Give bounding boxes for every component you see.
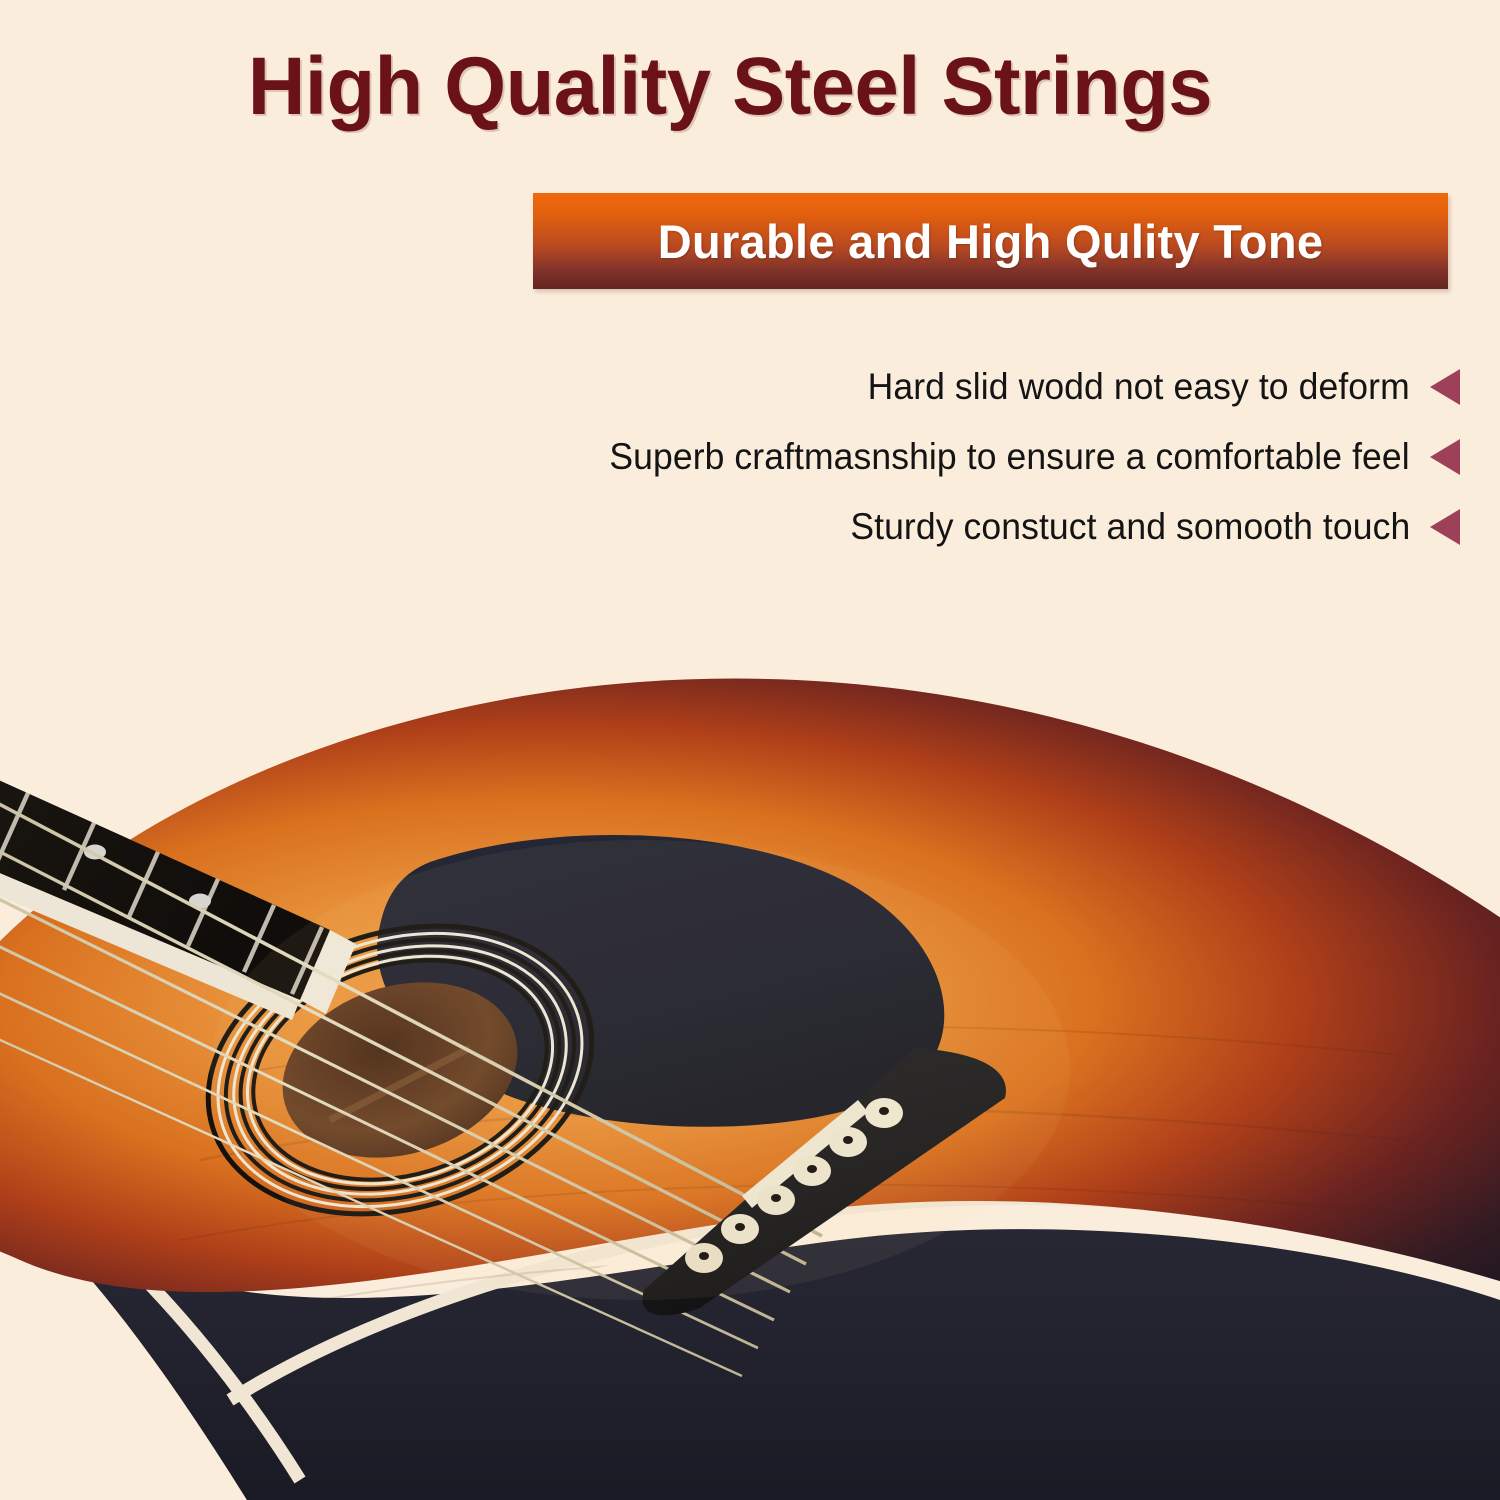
product-feature-image: High Quality Steel Strings Durable and H… [0, 0, 1500, 1500]
feature-list: Hard slid wodd not easy to deform Superb… [300, 352, 1460, 562]
list-item: Superb craftmasnship to ensure a comfort… [300, 422, 1460, 492]
feature-text: Superb craftmasnship to ensure a comfort… [610, 436, 1410, 478]
soundboard-highlight [210, 840, 1070, 1300]
product-photo-acoustic-guitar [0, 600, 1500, 1500]
list-item: Sturdy constuct and somooth touch [300, 492, 1460, 562]
left-triangle-icon [1430, 439, 1460, 475]
subtitle-banner-label: Durable and High Qulity Tone [658, 214, 1324, 269]
guitar-illustration [0, 600, 1500, 1500]
feature-text: Hard slid wodd not easy to deform [868, 366, 1410, 408]
left-triangle-icon [1430, 369, 1460, 405]
left-triangle-icon [1430, 509, 1460, 545]
feature-text: Sturdy constuct and somooth touch [850, 506, 1410, 548]
page-title: High Quality Steel Strings [22, 40, 1438, 134]
subtitle-banner: Durable and High Qulity Tone [533, 193, 1448, 289]
list-item: Hard slid wodd not easy to deform [300, 352, 1460, 422]
